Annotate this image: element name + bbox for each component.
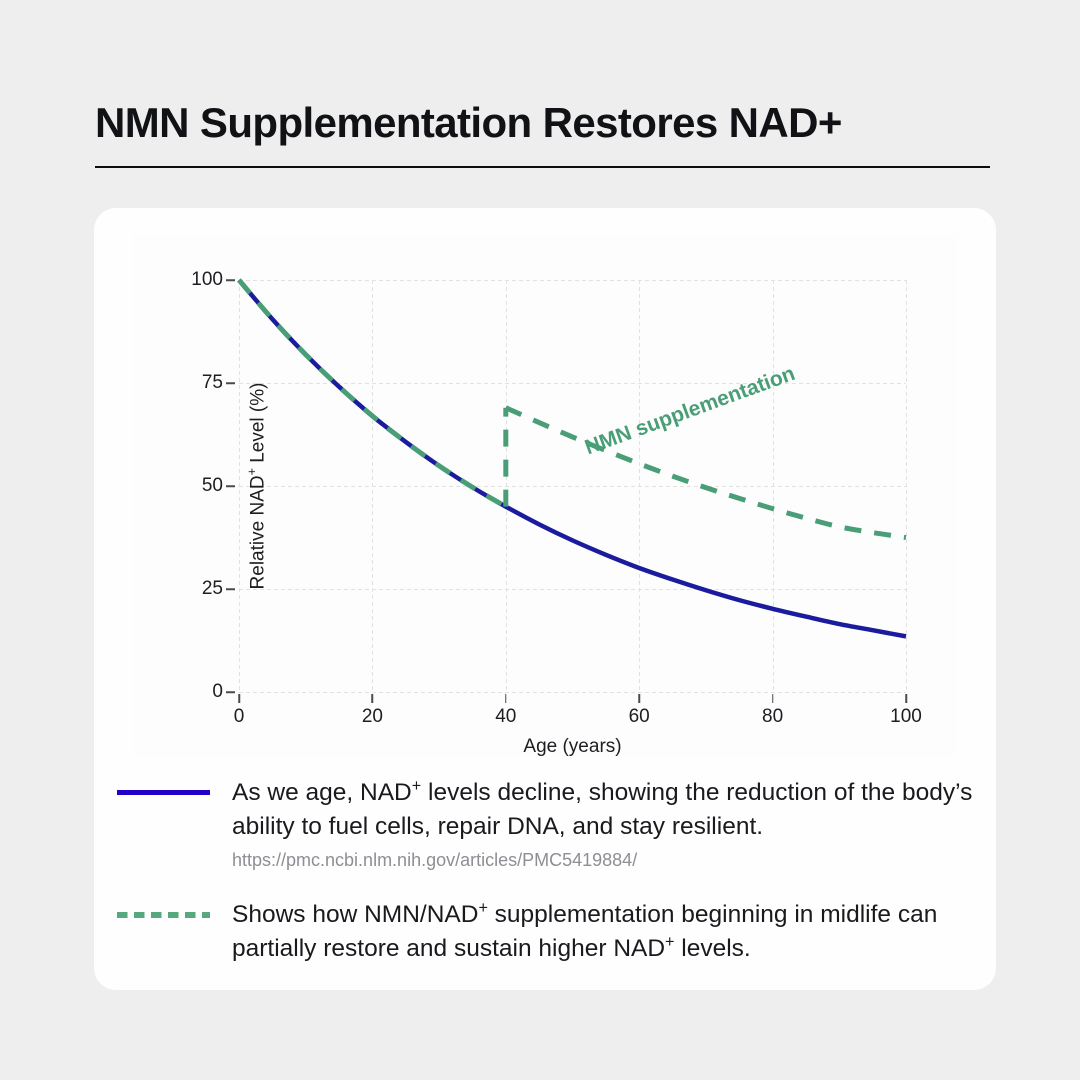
- y-tick-mark: [226, 279, 235, 281]
- x-tick-mark: [772, 694, 774, 703]
- legend-item: Shows how NMN/NAD+ supplementation begin…: [117, 898, 977, 966]
- chart-legend: As we age, NAD+ levels decline, showing …: [117, 776, 977, 992]
- y-tick-mark: [226, 382, 235, 384]
- infographic-page: NMN Supplementation Restores NAD+ 025507…: [0, 0, 1080, 1080]
- title-divider: [95, 166, 990, 168]
- series-line-natural-decline: [239, 280, 906, 636]
- legend-swatch-dashed: [117, 912, 210, 918]
- y-tick-mark: [226, 485, 235, 487]
- legend-text: As we age, NAD+ levels decline, showing …: [232, 776, 977, 872]
- header: NMN Supplementation Restores NAD+: [95, 100, 990, 168]
- x-tick-mark: [372, 694, 374, 703]
- legend-source-link[interactable]: https://pmc.ncbi.nlm.nih.gov/articles/PM…: [232, 849, 977, 872]
- plot-area: 0255075100020406080100 Relative NAD+ Lev…: [239, 280, 906, 692]
- legend-text: Shows how NMN/NAD+ supplementation begin…: [232, 898, 977, 966]
- legend-item: As we age, NAD+ levels decline, showing …: [117, 776, 977, 872]
- x-axis-label: Age (years): [523, 736, 621, 758]
- legend-description: As we age, NAD+ levels decline, showing …: [232, 776, 977, 844]
- x-tick-mark: [505, 694, 507, 703]
- legend-swatch-solid: [117, 790, 210, 795]
- x-tick-mark: [905, 694, 907, 703]
- x-tick-mark: [638, 694, 640, 703]
- legend-description: Shows how NMN/NAD+ supplementation begin…: [232, 898, 977, 966]
- page-title: NMN Supplementation Restores NAD+: [95, 100, 990, 146]
- chart-card: 0255075100020406080100 Relative NAD+ Lev…: [94, 208, 996, 990]
- gridline-horizontal: [239, 692, 906, 693]
- y-tick-mark: [226, 588, 235, 590]
- series-line-nmn-supplementation: [239, 280, 506, 507]
- gridline-vertical: [906, 280, 907, 692]
- series-line-nmn-supplementation: [506, 408, 906, 538]
- x-tick-mark: [238, 694, 240, 703]
- plot-container: 0255075100020406080100 Relative NAD+ Lev…: [133, 234, 957, 756]
- chart-curves: [239, 280, 906, 692]
